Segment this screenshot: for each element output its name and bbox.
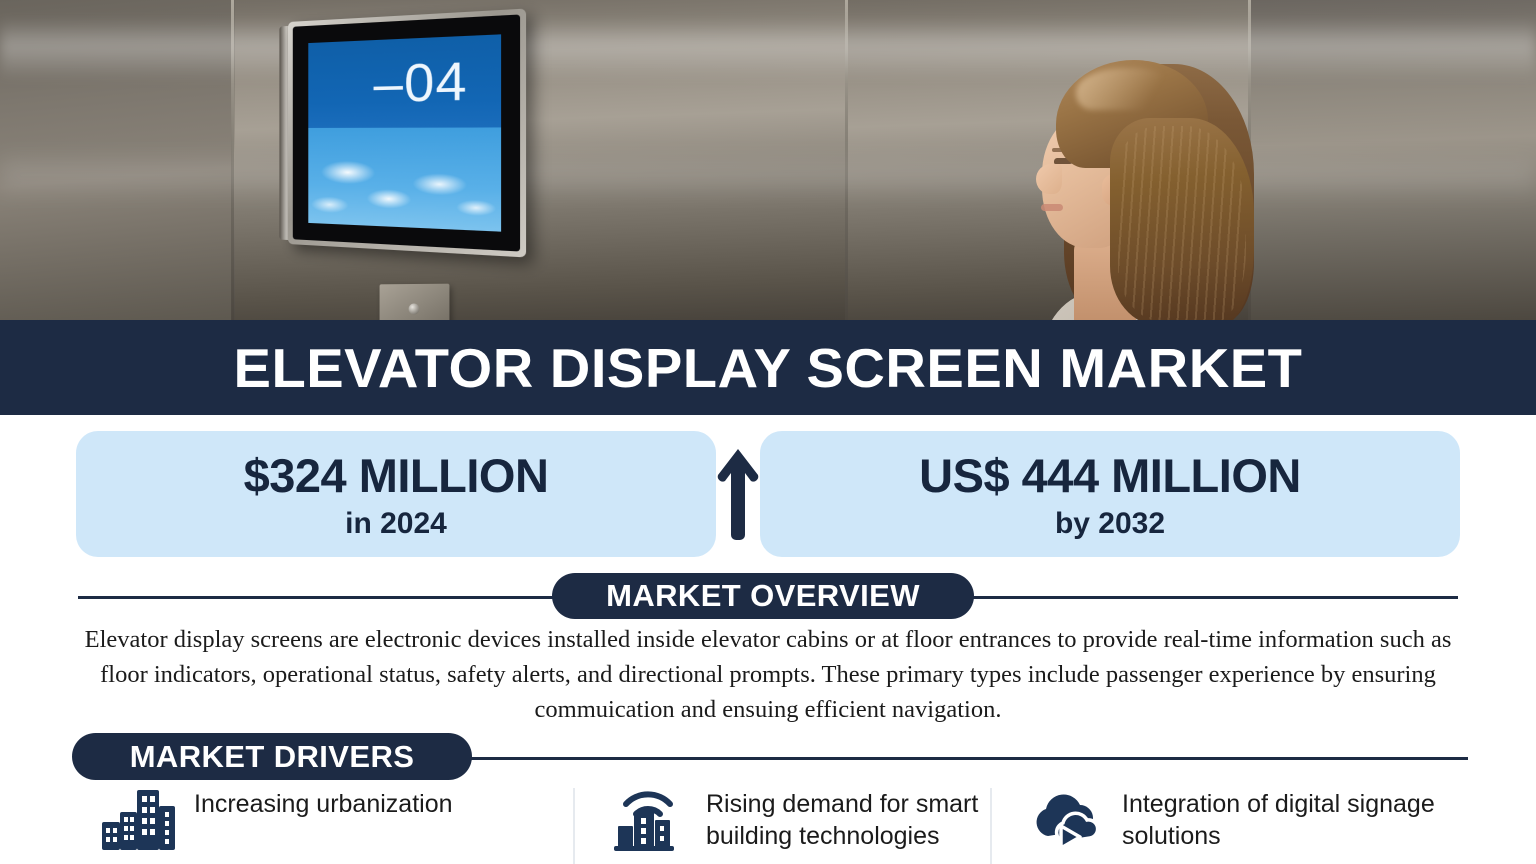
display-bezel: –04: [293, 14, 520, 251]
market-size-stats: $324 MILLION in 2024 US$ 444 MILLION by …: [0, 431, 1536, 557]
stat-forecast-label: by 2032: [1055, 507, 1165, 541]
call-button-dot: [409, 303, 420, 314]
overview-divider-right: [972, 596, 1458, 599]
stat-forecast-value: US$ 444 MILLION: [919, 451, 1301, 500]
display-sky-image: [308, 127, 501, 232]
smart-building-wifi-icon: [612, 786, 690, 852]
market-drivers-list: Increasing urbanization: [0, 782, 1536, 864]
passenger-figure: [1014, 52, 1314, 322]
elevator-floor-display: –04: [288, 9, 526, 258]
infographic-page: –04: [0, 0, 1536, 864]
section-header-market-drivers: MARKET DRIVERS: [72, 733, 472, 780]
hair-highlight: [1076, 68, 1176, 110]
elevator-call-button[interactable]: [380, 284, 450, 322]
overview-divider-left: [78, 596, 555, 599]
stat-current-label: in 2024: [345, 507, 447, 541]
drivers-divider: [466, 757, 1468, 760]
nose: [1036, 164, 1062, 194]
driver-item: Rising demand for smart building technol…: [612, 782, 1012, 864]
title-band: ELEVATOR DISPLAY SCREEN MARKET: [0, 320, 1536, 415]
overview-paragraph: Elevator display screens are electronic …: [80, 623, 1456, 727]
page-title: ELEVATOR DISPLAY SCREEN MARKET: [234, 336, 1303, 400]
stat-current-value: $324 MILLION: [244, 451, 549, 500]
driver-label: Increasing urbanization: [194, 782, 453, 820]
section-header-market-overview: MARKET OVERVIEW: [552, 573, 974, 619]
driver-item: Increasing urbanization: [100, 782, 570, 864]
elevator-cabin-photo: –04: [0, 0, 1536, 322]
cloud-digital-signage-icon: [1028, 786, 1106, 852]
display-frame: –04: [288, 9, 526, 258]
stat-forecast-year: US$ 444 MILLION by 2032: [760, 431, 1460, 557]
lips: [1041, 204, 1063, 211]
driver-item: Integration of digital signage solutions: [1028, 782, 1468, 864]
driver-label: Integration of digital signage solutions: [1122, 782, 1468, 852]
driver-label: Rising demand for smart building technol…: [706, 782, 1012, 852]
display-screen-indicator-band: –04: [308, 34, 501, 127]
floor-number-text: –04: [374, 54, 468, 110]
stat-current-year: $324 MILLION in 2024: [76, 431, 716, 557]
up-arrow-icon: [716, 445, 760, 543]
hair-strand-texture: [1118, 126, 1246, 322]
display-screen: –04: [308, 34, 501, 231]
city-buildings-icon: [100, 786, 178, 852]
